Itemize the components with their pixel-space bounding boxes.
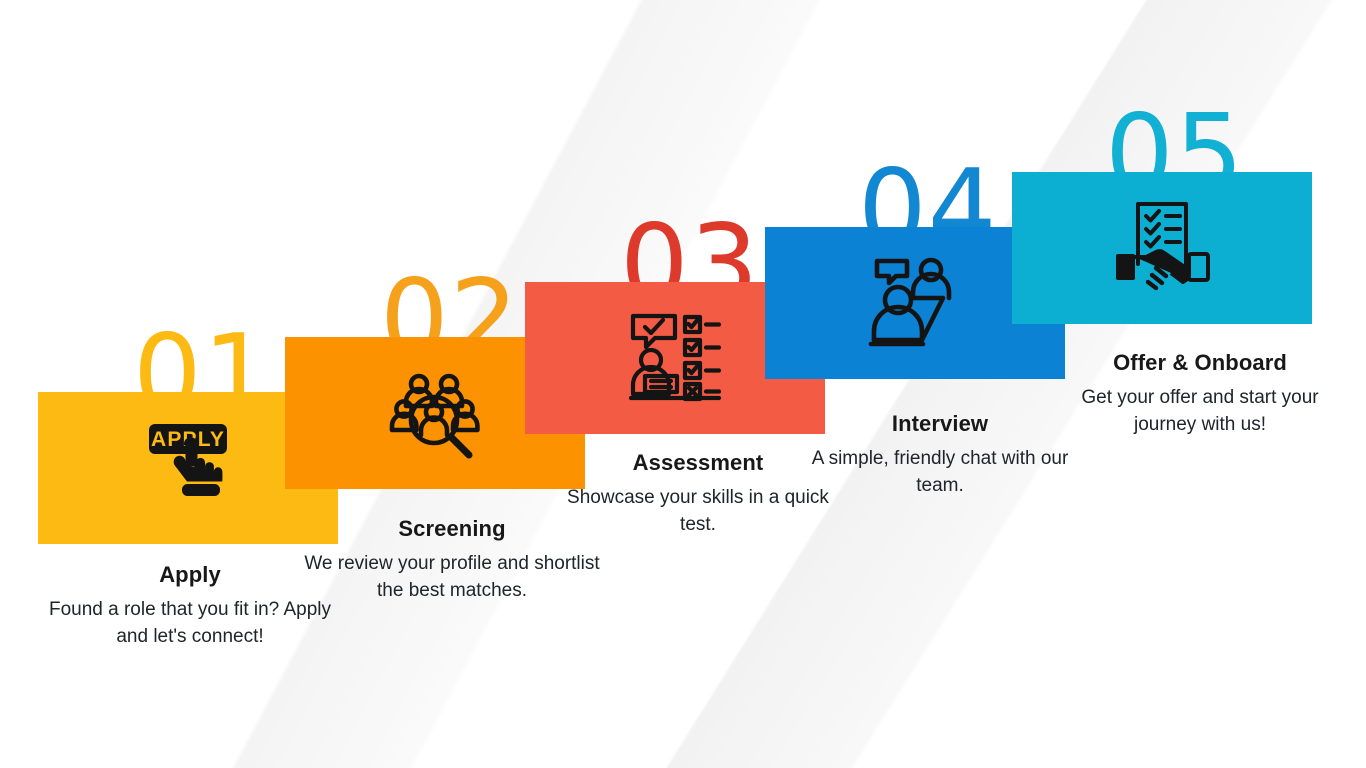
interview-people-talking-icon xyxy=(861,251,969,355)
step-title-01: Apply xyxy=(40,562,340,588)
apply-button-cursor-icon: APPLY xyxy=(134,416,242,520)
step-description-05: Get your offer and start your journey wi… xyxy=(1050,385,1350,439)
assessment-checklist-icon xyxy=(621,306,729,410)
step-description-04: A simple, friendly chat with our team. xyxy=(790,446,1090,500)
step-caption-01: ApplyFound a role that you fit in? Apply… xyxy=(40,562,340,651)
step-caption-04: InterviewA simple, friendly chat with ou… xyxy=(790,411,1090,500)
step-card-05[interactable] xyxy=(1012,172,1312,324)
step-title-04: Interview xyxy=(790,411,1090,437)
handshake-contract-icon xyxy=(1108,196,1216,300)
step-title-05: Offer & Onboard xyxy=(1050,350,1350,376)
process-infographic: 01 APPLY ApplyFound a role that you fit … xyxy=(0,0,1366,768)
step-description-01: Found a role that you fit in? Apply and … xyxy=(40,597,340,651)
people-search-icon xyxy=(381,361,489,465)
step-description-02: We review your profile and shortlist the… xyxy=(302,551,602,605)
step-caption-05: Offer & OnboardGet your offer and start … xyxy=(1050,350,1350,439)
